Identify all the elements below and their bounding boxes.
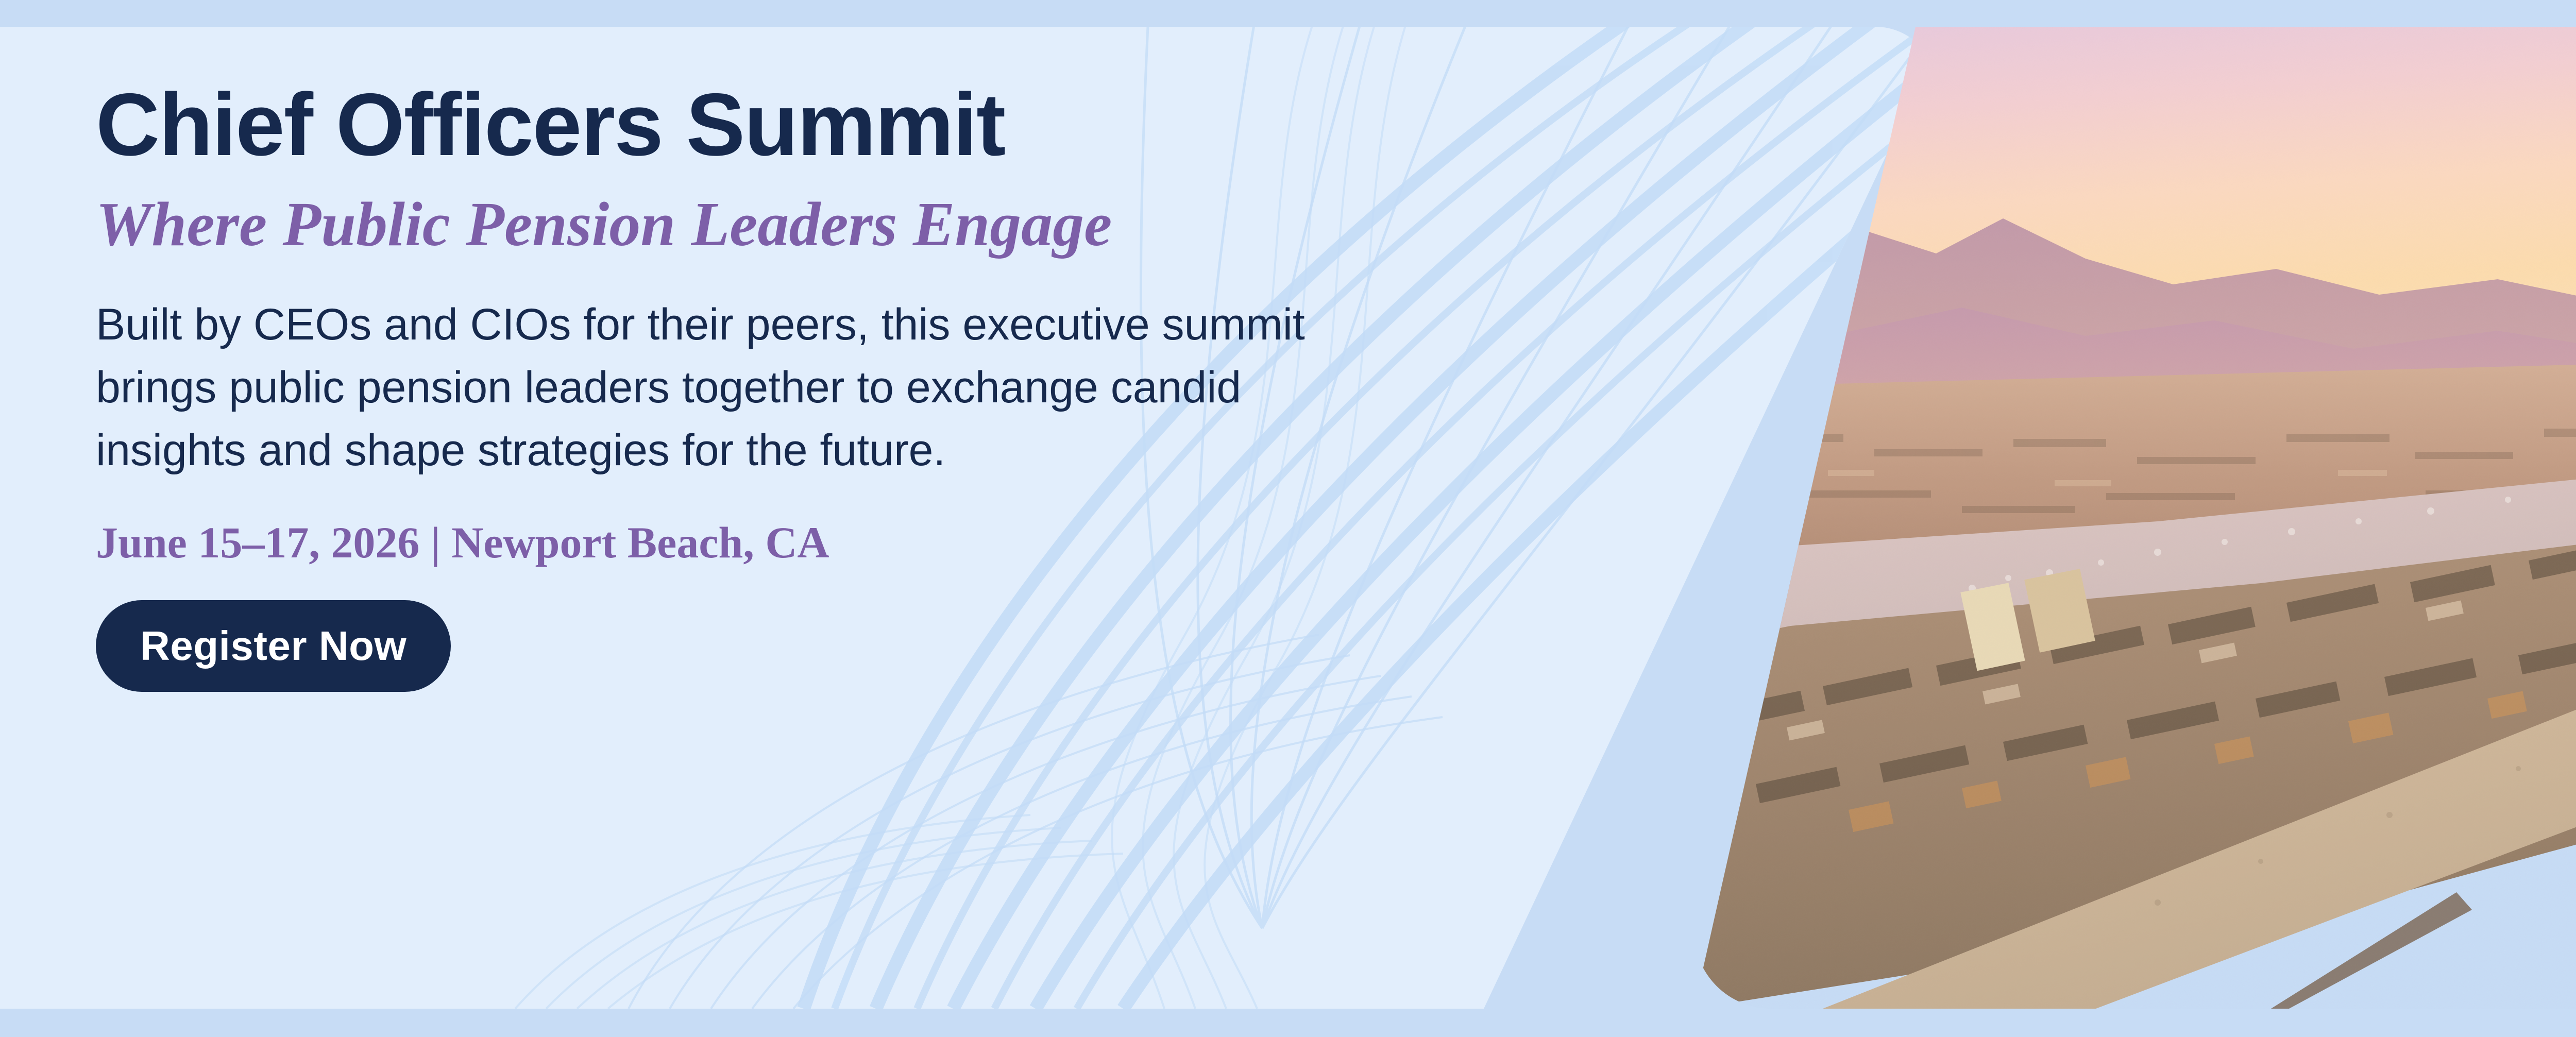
banner-description: Built by CEOs and CIOs for their peers, … [96,293,1657,482]
description-line-2: brings public pension leaders together t… [96,356,1657,419]
banner-subtitle: Where Public Pension Leaders Engage [96,190,1667,259]
panel-inner: Chief Officers Summit Where Public Pensi… [0,27,1937,1009]
event-promo-banner: Chief Officers Summit Where Public Pensi… [0,0,2576,1037]
register-now-button[interactable]: Register Now [96,600,451,692]
banner-content: Chief Officers Summit Where Public Pensi… [96,78,1667,692]
event-date-location: June 15–17, 2026 | Newport Beach, CA [96,517,1667,568]
page-title: Chief Officers Summit [96,78,1667,172]
description-line-3: insights and shape strategies for the fu… [96,419,1657,482]
content-panel: Chief Officers Summit Where Public Pensi… [0,27,1937,1009]
description-line-1: Built by CEOs and CIOs for their peers, … [96,293,1657,356]
